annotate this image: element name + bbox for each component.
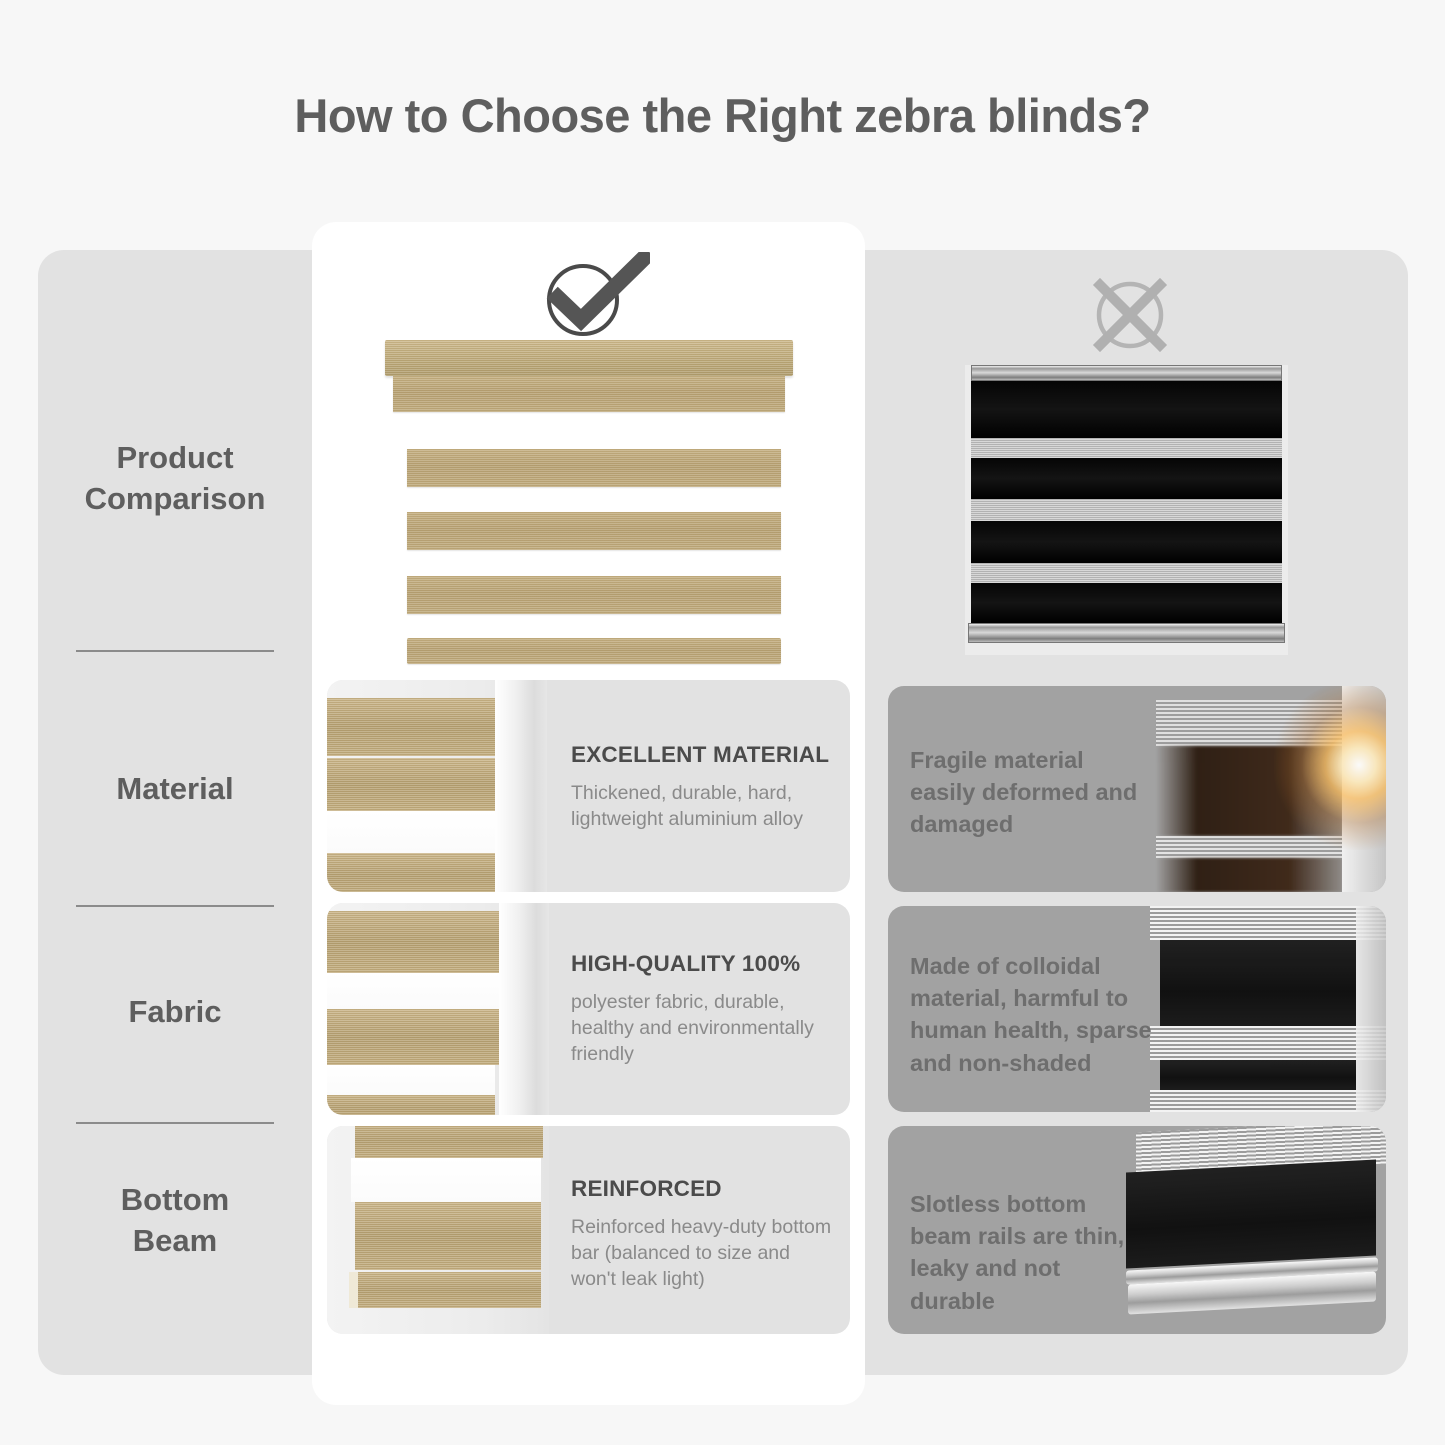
row-label-fabric: Fabric bbox=[38, 992, 312, 1033]
good-cell-material: EXCELLENT MATERIAL Thickened, durable, h… bbox=[327, 680, 850, 892]
x-circle-icon bbox=[1085, 273, 1175, 357]
blind-bottom-bar bbox=[407, 638, 781, 664]
hero-image-black-zebra-blind bbox=[965, 365, 1288, 655]
good-cell-bottom-beam: REINFORCED Reinforced heavy-duty bottom … bbox=[327, 1126, 850, 1334]
dark-window-panel bbox=[1156, 858, 1342, 892]
sheer-stripe bbox=[1150, 1026, 1386, 1060]
photo-sparse-black-blind-closeup bbox=[1150, 906, 1386, 1112]
check-circle-icon bbox=[534, 252, 650, 340]
wood-band bbox=[355, 1126, 543, 1158]
cell-body: polyester fabric, durable, healthy and e… bbox=[571, 990, 839, 1068]
blind-dark-stripe bbox=[971, 583, 1281, 623]
blind-headrail bbox=[385, 340, 793, 376]
row-label-product-comparison: Product Comparison bbox=[38, 438, 312, 520]
cell-body: Reinforced heavy-duty bottom bar (balanc… bbox=[571, 1215, 839, 1293]
good-cell-fabric-text: HIGH-QUALITY 100% polyester fabric, dura… bbox=[571, 951, 839, 1068]
wood-band bbox=[327, 1009, 501, 1065]
sun-glare-icon bbox=[1274, 686, 1386, 850]
blind-dark-stripe bbox=[971, 521, 1281, 563]
good-cell-material-text: EXCELLENT MATERIAL Thickened, durable, h… bbox=[571, 742, 833, 833]
blind-slat bbox=[407, 512, 781, 550]
good-cell-fabric: HIGH-QUALITY 100% polyester fabric, dura… bbox=[327, 903, 850, 1115]
row-divider-1 bbox=[76, 650, 274, 652]
blind-headrail bbox=[971, 365, 1281, 381]
row-label-line1: Bottom bbox=[121, 1182, 229, 1217]
blind-dark-stripe bbox=[971, 458, 1281, 499]
wood-band bbox=[355, 1202, 541, 1270]
wood-band bbox=[327, 758, 495, 811]
cell-heading: HIGH-QUALITY 100% bbox=[571, 951, 839, 977]
black-fabric-stripe bbox=[1160, 940, 1356, 1026]
white-band bbox=[327, 973, 501, 1009]
bad-cell-bottom-beam-text: Slotless bottom beam rails are thin, lea… bbox=[910, 1188, 1150, 1317]
row-divider-3 bbox=[76, 1122, 274, 1124]
row-label-material: Material bbox=[38, 769, 312, 810]
blind-dark-stripe bbox=[971, 381, 1281, 438]
bad-cell-fabric: Made of colloidal material, harmful to h… bbox=[888, 906, 1386, 1112]
cell-heading: EXCELLENT MATERIAL bbox=[571, 742, 833, 768]
photo-beige-blind-headrail-closeup bbox=[327, 680, 545, 892]
sheer-stripe bbox=[1150, 1090, 1386, 1112]
blind-sheer-stripe bbox=[971, 563, 1281, 583]
black-fabric-stripe bbox=[1160, 1060, 1356, 1090]
hero-image-beige-zebra-blind bbox=[385, 340, 793, 665]
photo-sun-glare-leaking-window bbox=[1156, 686, 1386, 892]
row-label-column: Product Comparison Material Fabric Botto… bbox=[38, 250, 312, 1375]
row-label-line1: Material bbox=[116, 771, 233, 806]
reinforced-bottom-bar bbox=[349, 1272, 541, 1308]
blind-slat bbox=[393, 376, 785, 412]
bad-cell-bottom-beam: Slotless bottom beam rails are thin, lea… bbox=[888, 1126, 1386, 1334]
blind-slat bbox=[407, 449, 781, 487]
good-cell-bottom-beam-text: REINFORCED Reinforced heavy-duty bottom … bbox=[571, 1176, 839, 1293]
photo-beige-blind-bottom-bar-closeup bbox=[327, 1126, 549, 1334]
cell-heading: REINFORCED bbox=[571, 1176, 839, 1202]
photo-beige-blind-fabric-closeup bbox=[327, 903, 545, 1115]
white-band bbox=[327, 1065, 495, 1095]
row-label-line2: Beam bbox=[133, 1223, 217, 1258]
row-label-line1: Product bbox=[116, 440, 233, 475]
bad-cell-material-text: Fragile material easily deformed and dam… bbox=[910, 744, 1140, 841]
black-fabric-stripe bbox=[1126, 1159, 1376, 1268]
window-frame bbox=[1356, 906, 1386, 1112]
cell-body: Thickened, durable, hard, lightweight al… bbox=[571, 781, 833, 833]
window-frame-edge bbox=[499, 903, 549, 1115]
row-label-bottom-beam: Bottom Beam bbox=[38, 1180, 312, 1262]
blind-bottom-bar bbox=[968, 623, 1285, 643]
blind-sheer-stripe bbox=[971, 438, 1281, 458]
blind-sheer-stripe bbox=[971, 499, 1281, 521]
wood-band bbox=[327, 1095, 495, 1115]
wood-band bbox=[327, 698, 511, 756]
row-divider-2 bbox=[76, 905, 274, 907]
row-label-line2: Comparison bbox=[85, 481, 266, 516]
page-title: How to Choose the Right zebra blinds? bbox=[0, 88, 1445, 143]
wood-band bbox=[327, 911, 505, 973]
bad-cell-fabric-text: Made of colloidal material, harmful to h… bbox=[910, 950, 1160, 1079]
row-label-line1: Fabric bbox=[128, 994, 221, 1029]
photo-thin-silver-bottom-rail bbox=[1118, 1126, 1386, 1334]
blind-slat bbox=[407, 576, 781, 614]
wood-band bbox=[327, 853, 501, 892]
infographic-page: How to Choose the Right zebra blinds? Pr… bbox=[0, 0, 1445, 1445]
white-band bbox=[327, 811, 495, 853]
sheer-stripe bbox=[1150, 906, 1386, 940]
bad-cell-material: Fragile material easily deformed and dam… bbox=[888, 686, 1386, 892]
white-band bbox=[351, 1158, 541, 1202]
window-frame-edge bbox=[495, 680, 547, 892]
